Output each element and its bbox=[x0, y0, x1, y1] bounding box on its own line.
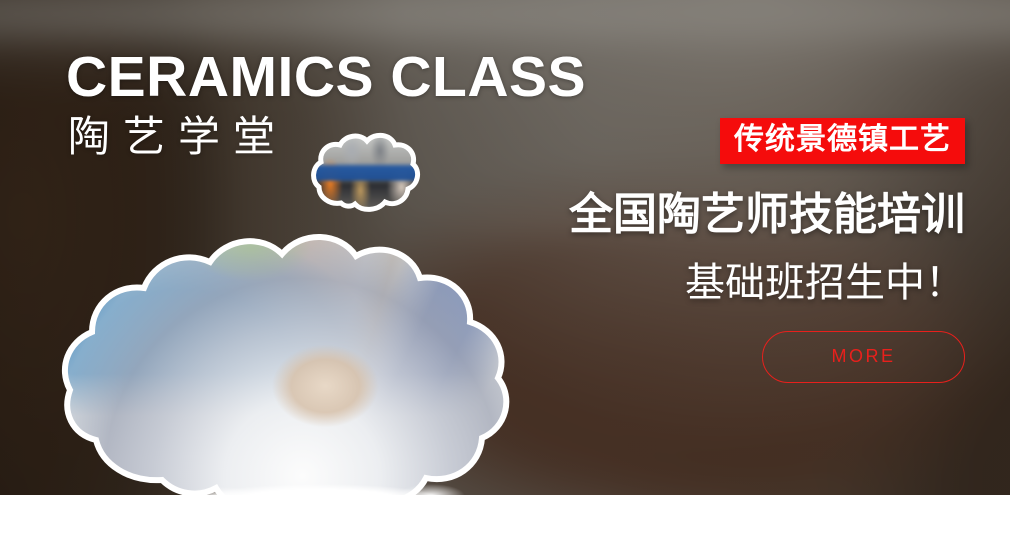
banner-title-english: CERAMICS CLASS bbox=[66, 48, 586, 106]
craft-badge: 传统景德镇工艺 bbox=[720, 118, 965, 164]
ceramics-class-banner: CERAMICS CLASS 陶艺学堂 传统景德镇工艺 全国陶艺师技能培训 基础… bbox=[0, 0, 1010, 538]
more-button[interactable]: MORE bbox=[762, 331, 965, 383]
promo-headline-secondary: 基础班招生中！ bbox=[495, 261, 965, 305]
bottom-white-strip bbox=[0, 495, 1010, 538]
secondary-photo-bubble bbox=[313, 133, 421, 215]
promo-copy-block: 传统景德镇工艺 全国陶艺师技能培训 基础班招生中！ MORE bbox=[495, 118, 965, 383]
promo-headline-primary: 全国陶艺师技能培训 bbox=[495, 191, 965, 239]
